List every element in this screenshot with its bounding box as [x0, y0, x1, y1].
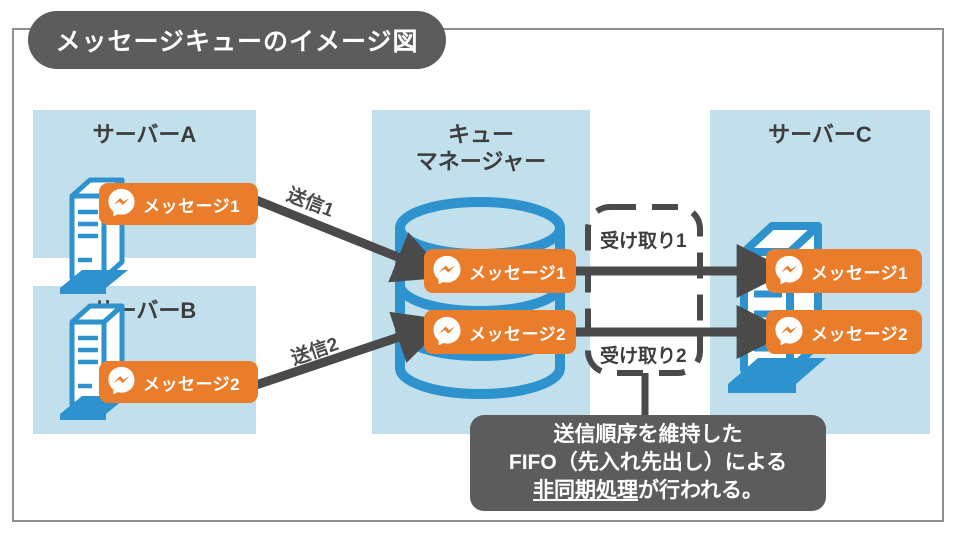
message-pill-queue-1[interactable]: メッセージ1 [424, 249, 576, 293]
message-pill-label: メッセージ1 [811, 259, 908, 284]
fifo-callout: 送信順序を維持した FIFO（先入れ先出し）による 非同期処理が行われる。 [470, 415, 826, 511]
message-pill-label: メッセージ2 [143, 370, 240, 395]
callout-line-3-underlined: 非同期処理 [533, 479, 638, 502]
arrow-label-receive-2: 受け取り2 [600, 341, 687, 368]
message-pill-server-a[interactable]: メッセージ1 [99, 183, 258, 225]
messenger-icon [107, 187, 136, 221]
message-pill-server-b[interactable]: メッセージ2 [99, 361, 258, 403]
message-pill-label: メッセージ2 [811, 320, 908, 345]
callout-line-3: 非同期処理が行われる。 [533, 477, 763, 505]
message-pill-server-c-1[interactable]: メッセージ1 [766, 249, 922, 293]
callout-line-2: FIFO（先入れ先出し）による [509, 449, 787, 477]
diagram-title-pill: メッセージキューのイメージ図 [28, 11, 446, 69]
messenger-icon [432, 254, 462, 289]
arrow-label-receive-1: 受け取り1 [600, 226, 687, 253]
messenger-icon [107, 365, 136, 399]
message-pill-queue-2[interactable]: メッセージ2 [424, 310, 576, 354]
callout-line-1: 送信順序を維持した [554, 421, 743, 449]
message-pill-label: メッセージ1 [469, 259, 566, 284]
callout-line-3-rest: が行われる。 [638, 479, 763, 502]
arrow-send-2 [256, 330, 420, 385]
page-title: メッセージキューのイメージ図 [55, 22, 418, 58]
messenger-icon [774, 254, 804, 289]
messenger-icon [432, 315, 462, 350]
messenger-icon [774, 315, 804, 350]
arrow-send-1 [256, 200, 420, 266]
message-pill-label: メッセージ1 [143, 192, 240, 217]
message-pill-label: メッセージ2 [469, 320, 566, 345]
diagram-stage: メッセージキューのイメージ図 サーバーA サーバーB キュー マネージャー サー… [0, 0, 960, 540]
message-pill-server-c-2[interactable]: メッセージ2 [766, 310, 922, 354]
